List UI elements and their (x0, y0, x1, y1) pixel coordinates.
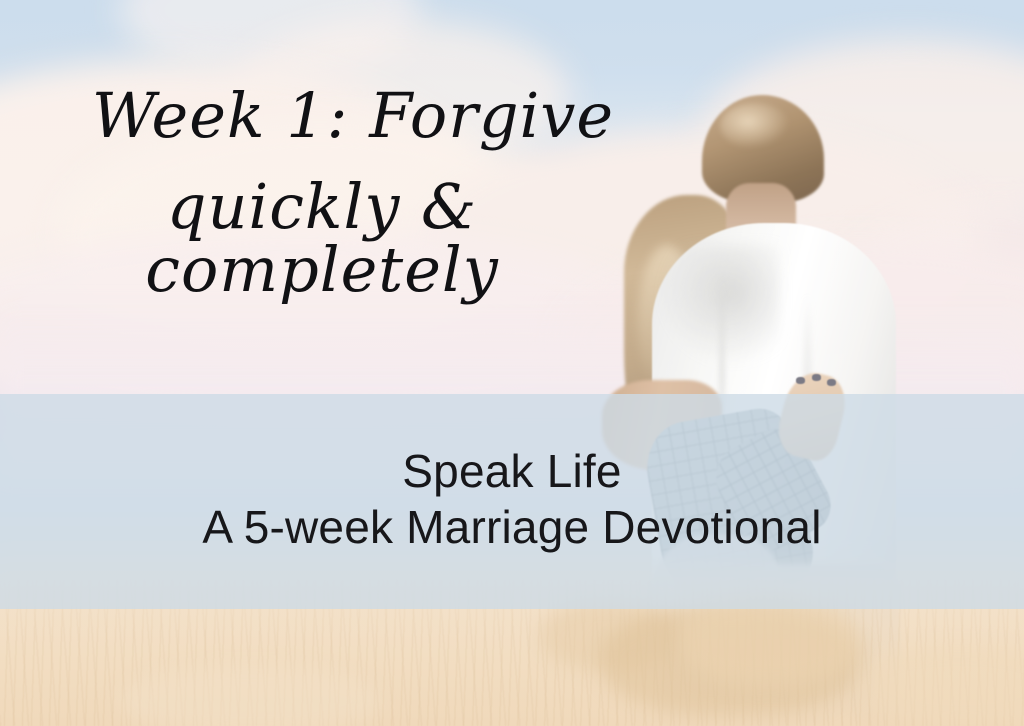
banner-title: Speak Life (0, 444, 1024, 499)
grass-clump (860, 646, 1024, 726)
headline-line-1: Week 1: Forgive (13, 84, 693, 147)
grass-clump (680, 596, 860, 686)
title-banner: Speak Life A 5-week Marriage Devotional (0, 394, 1024, 609)
headline-line-2: quickly & completely (0, 175, 662, 301)
headline-script: Week 1: Forgive quickly & completely (0, 84, 680, 302)
grass-clump (120, 666, 380, 726)
fingernail (812, 374, 821, 381)
banner-subtitle: A 5-week Marriage Devotional (0, 499, 1024, 557)
fingernail (827, 379, 836, 386)
banner-text-group: Speak Life A 5-week Marriage Devotional (0, 444, 1024, 557)
man-hair-highlight (720, 103, 790, 149)
devotional-graphic: Week 1: Forgive quickly & completely Spe… (0, 0, 1024, 726)
fingernail (796, 377, 805, 384)
